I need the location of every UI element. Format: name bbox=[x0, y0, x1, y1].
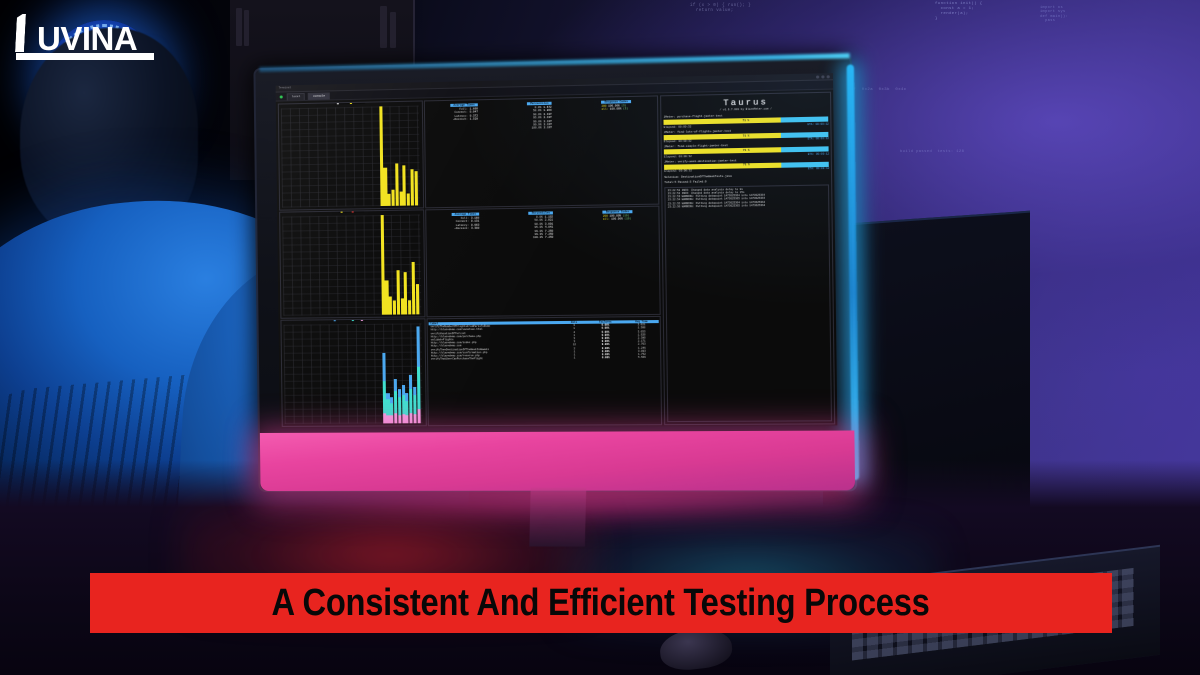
stat-key: ~Receive: bbox=[454, 227, 469, 231]
title-banner: A Consistent And Efficient Testing Proce… bbox=[90, 573, 1112, 633]
log-output-panel[interactable]: 23:22:52 INFO: Changed data analysis del… bbox=[665, 184, 833, 422]
latest-response-codes: Response Codes 200100.00%(3)all:100.00%(… bbox=[601, 100, 632, 203]
cumulative-stats: Average Times Full:3.188Connect:0.131Lat… bbox=[427, 209, 659, 314]
execution-item: JMeter: find-simple-flight-jmeter-test71… bbox=[664, 142, 829, 158]
monitor-bezel-bottom bbox=[260, 430, 855, 491]
chart-bar-segment bbox=[405, 393, 408, 401]
response-time-chart-plot bbox=[283, 323, 423, 424]
chart-bar-segment bbox=[402, 414, 405, 423]
latest-interval-stats: Average Times Full:1.860Connect:0.047Lat… bbox=[426, 99, 658, 206]
chart-bars bbox=[279, 214, 420, 315]
execution-list: JMeter: purchase-flight-jmeter-test71 %E… bbox=[664, 111, 830, 173]
legend-label-conn: conn bbox=[365, 318, 372, 321]
projected-code-text: if (x > 0) { run(); } return value; bbox=[690, 4, 751, 15]
cumulative-response-codes: Response Codes 200100.00%(19)all:100.00%… bbox=[603, 210, 634, 313]
logo-l-mark-icon bbox=[12, 14, 38, 60]
chart-bar bbox=[395, 163, 399, 205]
latest-percentiles: Percentiles 0.0%1.67250.0%1.86490.0%2.13… bbox=[527, 101, 553, 204]
main-monitor: Terminal local console bbox=[255, 56, 855, 490]
stat-row: 100.0%2.137 bbox=[528, 127, 552, 131]
chart-bar bbox=[414, 171, 418, 205]
legend-label-lat: lat bbox=[355, 318, 360, 321]
chart-bar-segment bbox=[417, 409, 420, 423]
chart-bar-segment bbox=[398, 415, 401, 423]
table-cell-label: verifyThatUserCanPurchaseTheFlight bbox=[429, 357, 562, 361]
elapsed-time: Elapsed: 00:00:32 bbox=[664, 125, 692, 129]
legend-label-hits: hits bbox=[344, 209, 351, 213]
projected-code-text: build passed tests: 128 bbox=[900, 150, 964, 155]
eta-time: ETA: 00:00:12 bbox=[807, 123, 828, 127]
eta-time: ETA: 00:00:12 bbox=[808, 137, 829, 141]
chart-bar-segment bbox=[383, 413, 386, 423]
terminal-body: users active hits bbox=[276, 90, 838, 428]
taurus-column: Taurus / v1.6.7.001 by BlazeMeter.com / … bbox=[660, 90, 838, 427]
latest-average-times: Average Times Full:1.860Connect:0.047Lat… bbox=[450, 103, 479, 206]
legend-swatch-fail-icon bbox=[352, 209, 354, 212]
chart-bar-segment bbox=[413, 387, 416, 395]
chart-bar-segment bbox=[413, 414, 416, 423]
legend-swatch-avgtime-icon bbox=[333, 318, 335, 321]
taurus-terminal[interactable]: Terminal local console bbox=[276, 73, 838, 428]
hits-chart-plot bbox=[282, 214, 422, 315]
banner-headline: A Consistent And Efficient Testing Proce… bbox=[272, 582, 930, 625]
chart-bar bbox=[379, 106, 383, 206]
chart-bar-segment bbox=[416, 327, 420, 367]
label-table: Label Hits Failures Avg Time verifyTheNu… bbox=[428, 320, 660, 424]
table-cell-hits: 1 bbox=[562, 356, 587, 359]
legend-label-avg-time: avg time bbox=[337, 318, 350, 321]
table-cell-avg: 5.566 bbox=[624, 356, 659, 360]
response-code-count: (19) bbox=[624, 218, 631, 222]
label-table-panel[interactable]: Label Hits Failures Avg Time verifyTheNu… bbox=[426, 315, 662, 425]
elapsed-time: Elapsed: 00:00:32 bbox=[664, 140, 692, 144]
monitor-screen: Terminal local console bbox=[276, 73, 838, 428]
chart-bar bbox=[416, 284, 420, 314]
luvina-logo: UVINA bbox=[12, 14, 137, 60]
chart-bar bbox=[384, 168, 388, 206]
monitor-stand bbox=[529, 488, 586, 547]
response-code-pct: 100.00% bbox=[610, 108, 622, 112]
taurus-panel[interactable]: Taurus / v1.6.7.001 by BlazeMeter.com / … bbox=[660, 91, 835, 425]
percentiles-header: Percentiles bbox=[529, 211, 553, 215]
chart-bar bbox=[389, 296, 392, 314]
response-code-code: all: bbox=[602, 108, 609, 112]
response-code-code: all: bbox=[603, 218, 610, 222]
tab-console[interactable]: console bbox=[308, 93, 330, 100]
average-times-header: Average Times bbox=[452, 212, 480, 216]
legend-swatch-users-icon bbox=[336, 101, 338, 104]
legend-label-fail: fail bbox=[355, 209, 362, 212]
cumulative-average-times: Average Times Full:3.188Connect:0.131Lat… bbox=[452, 212, 481, 314]
users-chart-legend: users active bbox=[334, 100, 365, 104]
execution-item: JMeter: purchase-flight-jmeter-test71 %E… bbox=[664, 113, 829, 130]
response-code-row: all:100.00%(3) bbox=[602, 107, 632, 111]
hits-chart-panel[interactable]: hits fail bbox=[279, 209, 426, 318]
status-dot-icon bbox=[280, 95, 283, 98]
projected-code-text: import os import sys def main(): pass bbox=[1040, 6, 1068, 24]
legend-swatch-hits-icon bbox=[340, 209, 342, 212]
chart-bar-segment bbox=[417, 367, 421, 409]
stat-key: 100.0% bbox=[532, 127, 542, 131]
legend-swatch-conn-icon bbox=[361, 318, 363, 321]
response-codes-header: Response Codes bbox=[601, 100, 631, 104]
stats-column: Latest Interval Stats at 23:22:45 Averag… bbox=[423, 93, 664, 427]
elapsed-time: Elapsed: 00:00:32 bbox=[664, 155, 692, 159]
chart-bar bbox=[404, 272, 408, 314]
chart-bar-segment bbox=[390, 415, 393, 423]
stat-key: ~Receive: bbox=[453, 118, 468, 122]
legend-label-users: users bbox=[340, 100, 348, 104]
legend-swatch-active-icon bbox=[350, 100, 352, 103]
stat-row: ~Receive:1.528 bbox=[450, 118, 478, 122]
users-chart-panel[interactable]: users active bbox=[277, 100, 424, 210]
stat-row: ~Receive:3.388 bbox=[452, 227, 480, 231]
eta-time: ETA: 00:00:12 bbox=[808, 152, 829, 156]
chart-bars bbox=[280, 323, 421, 424]
chart-bar bbox=[396, 270, 400, 314]
response-time-chart-panel[interactable]: avg time lat conn bbox=[280, 318, 427, 427]
terminal-title: Terminal bbox=[279, 87, 291, 91]
cumulative-percentiles: Percentiles 0.0%1.10250.0%2.02190.0%3.80… bbox=[529, 211, 555, 314]
stat-value: 1.528 bbox=[470, 118, 478, 122]
chart-bar-segment bbox=[409, 413, 412, 423]
eta-time: ETA: 00:00:12 bbox=[808, 167, 829, 171]
cumulative-stats-panel[interactable]: Cumulative Stats 00:00:25 Average Times … bbox=[425, 205, 661, 317]
logo-wordmark: UVINA bbox=[37, 24, 137, 54]
latest-interval-panel[interactable]: Latest Interval Stats at 23:22:45 Averag… bbox=[424, 95, 660, 208]
chart-bar-segment bbox=[398, 389, 401, 397]
execution-item: JMeter: find-lots-of-flights-jmeter-test… bbox=[664, 128, 829, 144]
stat-row: 100.0%7.259 bbox=[529, 236, 553, 240]
maximize-icon[interactable] bbox=[821, 75, 824, 78]
stat-value: 7.259 bbox=[545, 236, 553, 240]
response-code-row: all:100.00%(19) bbox=[603, 217, 633, 221]
chart-bar-segment bbox=[394, 413, 397, 423]
users-chart-plot bbox=[280, 105, 419, 207]
close-icon[interactable] bbox=[827, 75, 830, 78]
charts-column: users active hits bbox=[276, 98, 427, 427]
execution-item: JMeter: verify-week-destination-jmeter-t… bbox=[664, 157, 829, 173]
chart-bar bbox=[380, 215, 384, 315]
chart-bar bbox=[403, 165, 407, 205]
response-code-count: (3) bbox=[623, 107, 628, 111]
legend-label-active: active bbox=[353, 100, 363, 104]
chart-bar-segment bbox=[406, 415, 409, 423]
chart-bar-segment bbox=[401, 385, 404, 395]
table-row[interactable]: verifyThatUserCanPurchaseTheFlight10.00%… bbox=[429, 356, 660, 361]
stat-value: 2.137 bbox=[544, 127, 552, 131]
response-codes-header: Response Codes bbox=[603, 210, 633, 214]
response-time-chart-legend: avg time lat conn bbox=[331, 318, 373, 321]
elapsed-time: Elapsed: 00:00:32 bbox=[664, 170, 692, 174]
chart-bar-segment bbox=[387, 415, 390, 423]
window-buttons[interactable] bbox=[816, 75, 830, 78]
table-cell-failures: 0.00% bbox=[587, 356, 624, 360]
response-code-pct: 100.00% bbox=[611, 218, 623, 222]
minimize-icon[interactable] bbox=[816, 75, 819, 78]
projected-code-text: function init() { const a = 1; render(a)… bbox=[935, 2, 983, 22]
tab-local[interactable]: local bbox=[287, 93, 306, 100]
hits-chart-legend: hits fail bbox=[338, 209, 364, 213]
chart-bars bbox=[277, 105, 418, 207]
stat-key: 100.0% bbox=[533, 236, 543, 240]
legend-swatch-lat-icon bbox=[351, 318, 353, 321]
stat-value: 3.388 bbox=[471, 227, 479, 231]
